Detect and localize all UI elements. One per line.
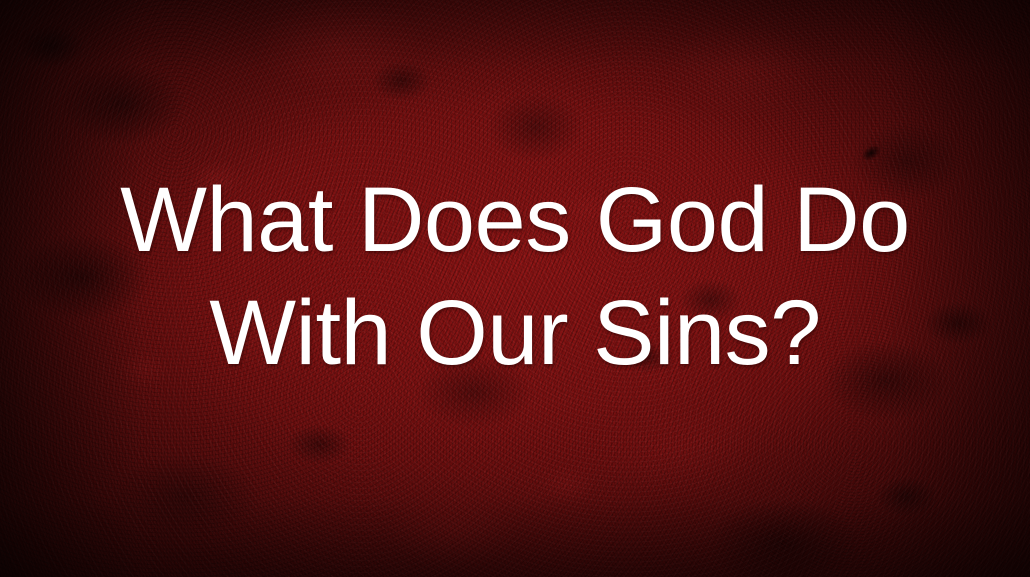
slide-title: What Does God Do With Our Sins? xyxy=(0,164,1030,390)
background-dark-speck xyxy=(860,142,884,164)
slide-title-line-1: What Does God Do xyxy=(0,164,1030,277)
title-slide: What Does God Do With Our Sins? xyxy=(0,0,1030,577)
slide-title-line-2: With Our Sins? xyxy=(0,277,1030,390)
